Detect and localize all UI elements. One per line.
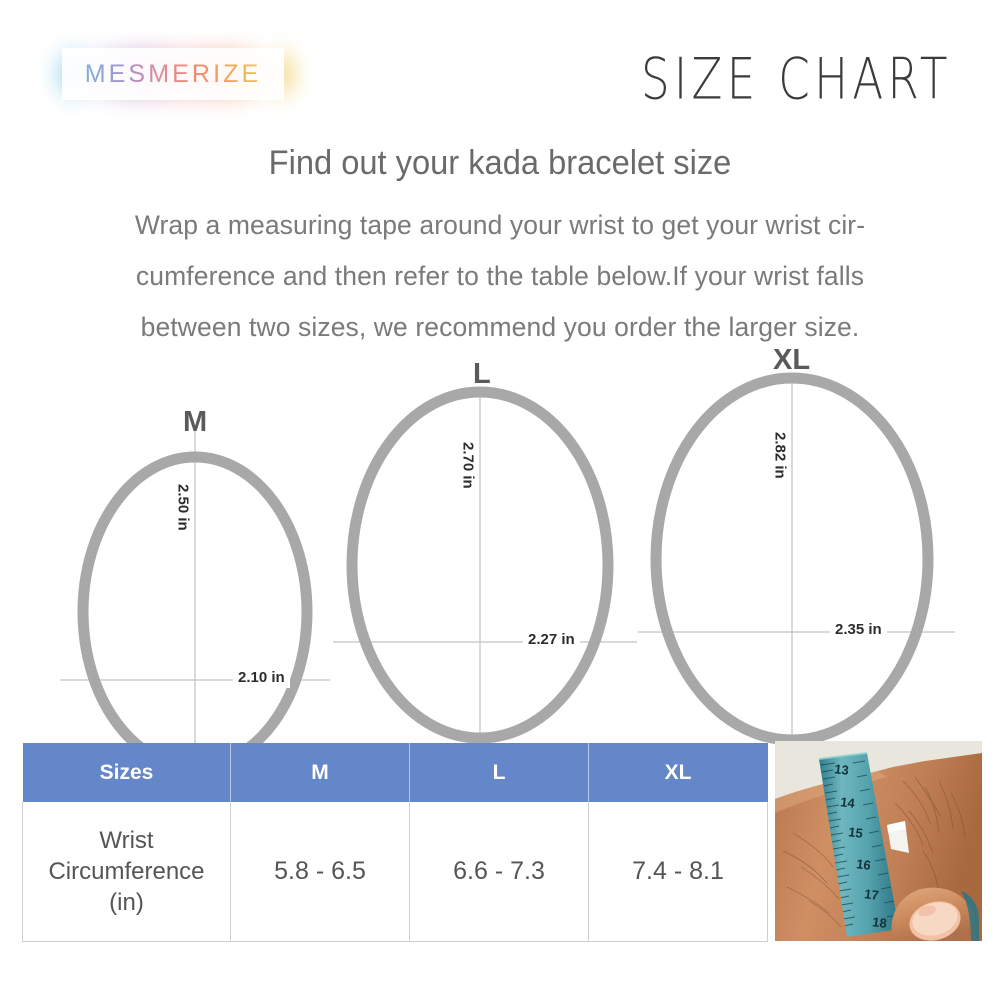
oval-label-l: L — [473, 360, 491, 389]
oval-width-l: 2.27 in — [523, 631, 580, 650]
size-table-head: Sizes M L XL — [23, 743, 768, 802]
table-header-row: Sizes M L XL — [23, 743, 768, 802]
size-table-body: Wrist Circumference (in) 5.8 - 6.5 6.6 -… — [23, 802, 768, 942]
svg-text:16: 16 — [855, 856, 871, 873]
row-label-line-1: Wrist — [99, 827, 153, 854]
headline: Find out your kada bracelet size — [20, 144, 980, 183]
brand-logo: MESMERIZE — [62, 48, 284, 100]
oval-label-m: M — [183, 408, 207, 437]
row-label-line-2: Circumference — [48, 858, 204, 885]
oval-xl-graphic — [630, 340, 970, 750]
intro-line-1: Wrap a measuring tape around your wrist … — [48, 200, 952, 251]
oval-height-l: 2.70 in — [458, 438, 477, 493]
oval-group-l: L 2.70 in 2.27 in — [325, 350, 645, 750]
cell-wrist-m: 5.8 - 6.5 — [231, 802, 410, 942]
size-diagram: M 2.50 in 2.10 in L 2.70 in 2.27 in XL 2… — [0, 350, 1000, 750]
wrist-measuring-photo: 13 14 15 16 17 18 — [775, 741, 982, 941]
svg-text:18: 18 — [871, 914, 887, 931]
oval-group-m: M 2.50 in 2.10 in — [40, 370, 340, 750]
intro-line-2: cumference and then refer to the table b… — [48, 251, 952, 302]
cell-wrist-l: 6.6 - 7.3 — [410, 802, 589, 942]
table-header-xl: XL — [589, 743, 768, 802]
svg-text:15: 15 — [847, 824, 863, 841]
oval-l-graphic — [325, 350, 645, 750]
row-label-wrist-circumference: Wrist Circumference (in) — [23, 802, 231, 942]
oval-height-xl: 2.82 in — [770, 428, 789, 483]
table-header-sizes: Sizes — [23, 743, 231, 802]
cell-wrist-xl: 7.4 - 8.1 — [589, 802, 768, 942]
table-header-m: M — [231, 743, 410, 802]
page-title: SIZE CHART — [641, 46, 952, 113]
row-label-line-3: (in) — [109, 889, 144, 916]
table-row: Wrist Circumference (in) 5.8 - 6.5 6.6 -… — [23, 802, 768, 942]
intro-paragraph: Wrap a measuring tape around your wrist … — [48, 200, 952, 353]
oval-group-xl: XL 2.82 in 2.35 in — [630, 340, 970, 750]
oval-height-m: 2.50 in — [173, 480, 192, 535]
svg-text:17: 17 — [863, 886, 879, 903]
svg-text:14: 14 — [839, 794, 856, 811]
brand-name: MESMERIZE — [62, 48, 284, 100]
oval-width-xl: 2.35 in — [830, 621, 887, 640]
wrist-photo-graphic: 13 14 15 16 17 18 — [775, 741, 982, 941]
size-table: Sizes M L XL Wrist Circumference (in) 5.… — [22, 743, 768, 942]
oval-width-m: 2.10 in — [233, 669, 290, 688]
table-header-l: L — [410, 743, 589, 802]
svg-text:13: 13 — [833, 761, 849, 778]
oval-label-xl: XL — [773, 346, 810, 375]
